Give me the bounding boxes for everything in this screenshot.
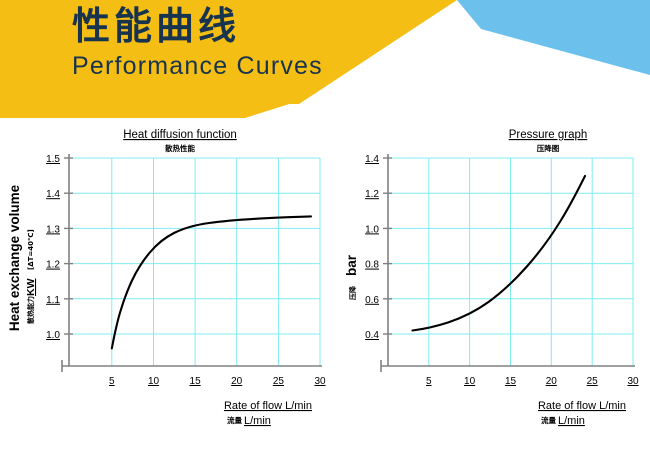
x-tick-label: 5	[426, 376, 432, 387]
y-tick-label: 1.0	[46, 330, 60, 341]
chart-title-en: Heat diffusion function	[123, 129, 237, 141]
chart-title-cn: 散热性能	[165, 143, 195, 153]
x-tick-label: 5	[109, 376, 115, 387]
x-axis-label-cn-unit: L/min	[558, 415, 585, 427]
chart-title-en: Pressure graph	[509, 129, 588, 141]
y-axis-label-cn: 散热能力	[26, 296, 35, 324]
x-tick-label: 15	[505, 376, 517, 387]
y-axis-label-en: Heat exchange volume	[7, 184, 22, 331]
x-axis-label-cn: 流量	[227, 415, 242, 425]
x-tick-label: 10	[148, 376, 160, 387]
x-tick-label: 30	[314, 376, 326, 387]
chart-pressure-graph: Pressure graph 压降图	[338, 118, 650, 458]
data-curve	[112, 216, 311, 348]
x-tick-label: 15	[190, 376, 202, 387]
y-axis-label-unit: bar	[344, 254, 359, 276]
y-tick-label: 1.4	[46, 189, 60, 200]
x-axis-label-en: Rate of flow L/min	[224, 400, 312, 412]
y-axis-label-unit: KW	[25, 278, 37, 296]
x-axis-label-cn: 流量	[541, 415, 556, 425]
page-title-cn: 性能曲线	[72, 4, 323, 49]
gridlines-horizontal	[69, 158, 320, 334]
y-tick-label: 1.4	[365, 154, 379, 165]
x-tick-label: 10	[464, 376, 476, 387]
y-tick-label: 1.2	[365, 189, 379, 200]
y-tick-label: 0.4	[365, 330, 379, 341]
y-tick-label: 1.2	[46, 260, 60, 271]
x-axis-label-cn-group: 流量 L/min	[227, 415, 271, 427]
x-tick-label: 20	[546, 376, 558, 387]
x-axis-label-cn-unit: L/min	[244, 415, 271, 427]
x-tick-label: 30	[627, 376, 639, 387]
y-tick-label: 1.5	[46, 154, 60, 165]
y-axis-label-cn: 压降	[348, 285, 357, 300]
data-curve	[413, 176, 586, 331]
performance-curves-page: 性能曲线 Performance Curves Heat diffusion f…	[0, 0, 650, 458]
x-tick-label: 25	[273, 376, 285, 387]
x-axis-label-cn-group: 流量 L/min	[541, 415, 585, 427]
y-tick-label: 0.6	[365, 295, 379, 306]
x-tick-label: 25	[587, 376, 599, 387]
y-tick-label: 1.1	[46, 295, 60, 306]
x-axis-label-en: Rate of flow L/min	[538, 400, 626, 412]
page-header: 性能曲线 Performance Curves	[0, 0, 650, 118]
x-tick-label: 20	[231, 376, 243, 387]
y-axis-label-group: 压降 bar	[344, 254, 359, 300]
y-axis-label-condition: [ΔT=40℃]	[27, 229, 35, 270]
y-axis-label-group: Heat exchange volume 散热能力 KW [ΔT=40℃]	[7, 184, 37, 331]
header-titles: 性能曲线 Performance Curves	[72, 4, 323, 81]
chart-heat-diffusion: Heat diffusion function 散热性能	[0, 118, 338, 458]
y-tick-label: 1.0	[365, 224, 379, 235]
chart-title-cn: 压降图	[537, 143, 560, 153]
y-tick-label: 0.8	[365, 260, 379, 271]
page-title-en: Performance Curves	[72, 51, 323, 81]
y-tick-label: 1.3	[46, 224, 60, 235]
